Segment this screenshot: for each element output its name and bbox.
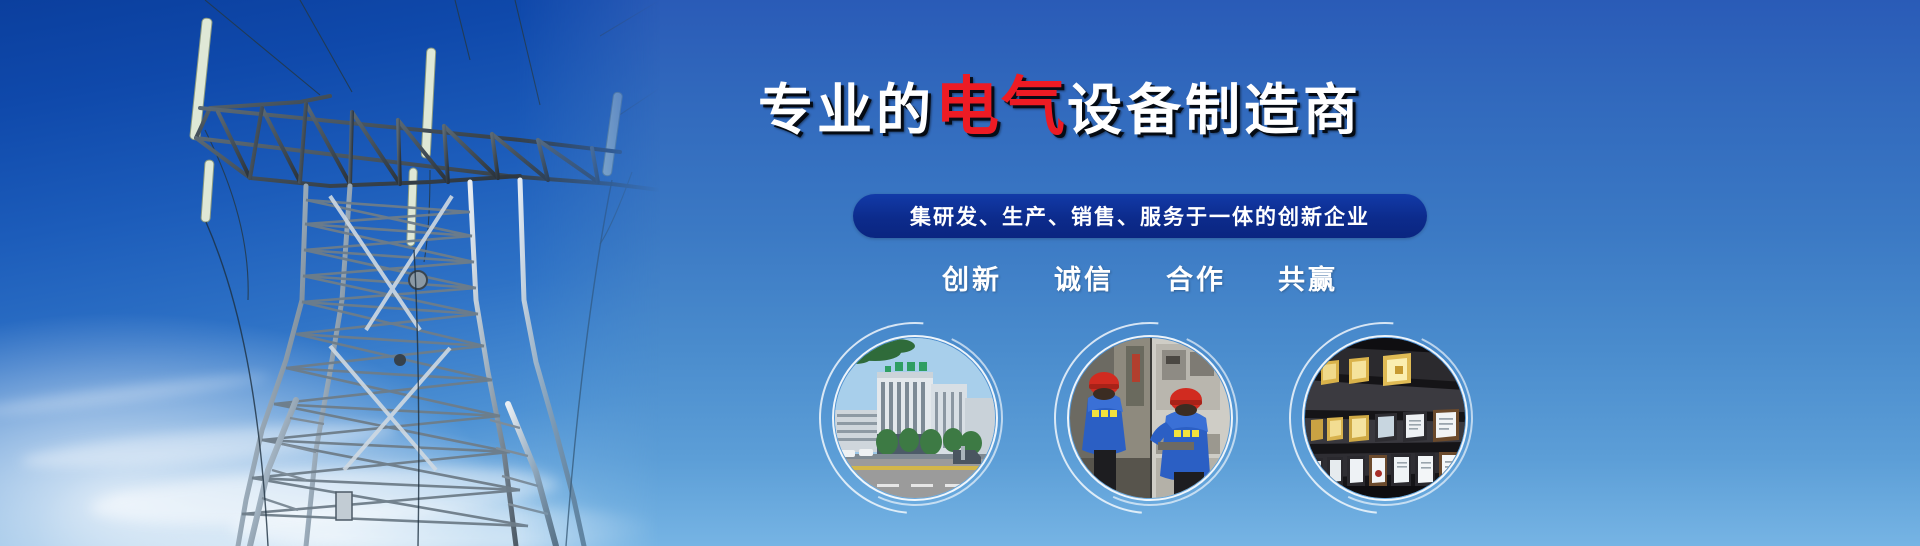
keyword-row: 创新 诚信 合作 共赢 xyxy=(853,258,1427,297)
office-building-photo: 公司办公大楼外景 xyxy=(835,338,995,498)
headline-suffix: 设备制造商 xyxy=(1067,78,1362,142)
tagline-pill: 集研发、生产、销售、服务于一体的创新企业 xyxy=(853,194,1427,238)
circle-photo-alt: 现场施工人员作业 xyxy=(1070,338,1071,339)
photo-clip xyxy=(835,338,995,498)
photo-clip xyxy=(1070,338,1230,498)
banner-image: 高压输电铁塔 专业的电气设备制造商 集研发、生产、销售、服务于一体的创新企业 创… xyxy=(0,0,1920,546)
tagline-text: 集研发、生产、销售、服务于一体的创新企业 xyxy=(910,201,1370,231)
photo-clip xyxy=(1305,338,1465,498)
circle-photo-row: 公司办公大楼外景 xyxy=(815,322,1465,546)
keyword-integrity: 诚信 xyxy=(1054,258,1114,297)
pylon-structure xyxy=(0,0,660,546)
headline-accent: 电气 xyxy=(935,71,1067,145)
keyword-cooperation: 合作 xyxy=(1166,258,1226,297)
certificate-wall-photo: 荣誉证书展示墙 xyxy=(1305,338,1465,498)
keyword-innovation: 创新 xyxy=(942,258,1002,297)
field-workers-photo: 现场施工人员作业 xyxy=(1070,338,1230,498)
circle-photo-alt: 荣誉证书展示墙 xyxy=(1305,338,1306,339)
headline-prefix: 专业的 xyxy=(758,78,935,142)
transmission-tower-photo: 高压输电铁塔 xyxy=(0,0,660,546)
circle-photo-alt: 公司办公大楼外景 xyxy=(835,338,836,339)
page-title: 专业的电气设备制造商 xyxy=(690,76,1430,140)
keyword-winwin: 共赢 xyxy=(1278,258,1338,297)
